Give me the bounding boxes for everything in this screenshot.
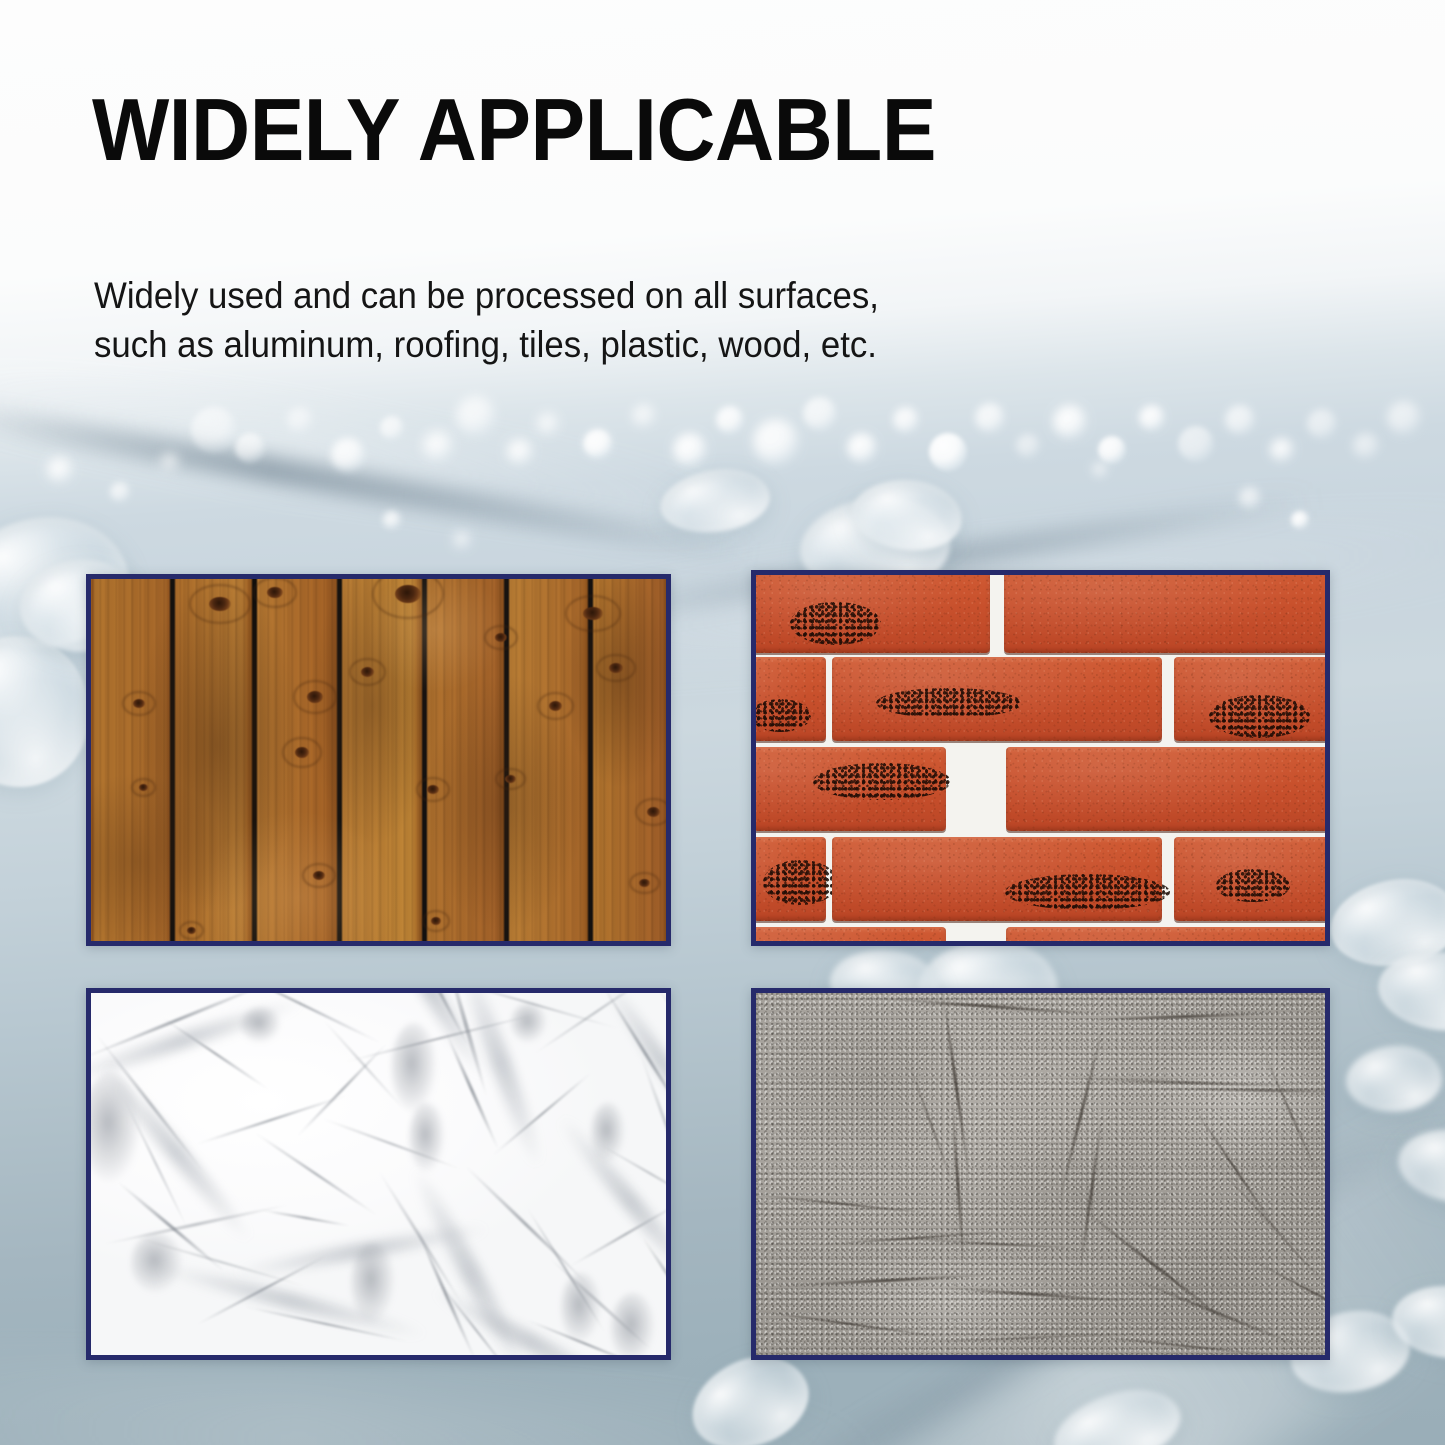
concrete-crack [1123, 1274, 1310, 1352]
brick-course-layer [756, 575, 1325, 941]
marble-vein-cluster [391, 1023, 437, 1113]
brick [1174, 657, 1325, 741]
wood-knot-ring [495, 768, 526, 790]
surface-sample-concrete [751, 988, 1330, 1360]
concrete-crack [1086, 1335, 1285, 1355]
marble-vein-cluster [351, 1243, 395, 1323]
marble-vein-cluster [131, 1233, 183, 1293]
surface-sample-marble [86, 988, 671, 1360]
concrete-crack [756, 1309, 949, 1339]
concrete-crack [1057, 1022, 1106, 1207]
concrete-crack-layer [756, 993, 1325, 1355]
marble-vein [253, 1131, 378, 1217]
marble-vein-cluster [591, 1103, 625, 1163]
surface-sample-brick [751, 570, 1330, 946]
page-subtitle: Widely used and can be processed on all … [94, 272, 879, 370]
wood-knot-ring [537, 692, 573, 720]
concrete-crack [1245, 1256, 1325, 1333]
promo-graphic: WIDELY APPLICABLE Widely used and can be… [0, 0, 1445, 1445]
wood-knot-ring [302, 863, 336, 888]
concrete-crack [916, 1333, 1136, 1343]
wood-knot-ring [629, 872, 660, 894]
wood-knot-ring [484, 625, 518, 650]
concrete-crack [936, 1286, 1136, 1303]
wood-knot-ring [253, 577, 298, 608]
wood-knot-ring [349, 658, 385, 686]
brick-course [756, 927, 1325, 941]
concrete-crack [756, 1193, 938, 1215]
brick [832, 657, 1162, 741]
marble-vein-layer [91, 993, 666, 1355]
wood-knot-ring [565, 595, 621, 631]
concrete-crack [904, 1053, 957, 1195]
brick [1006, 927, 1325, 941]
marble-vein [262, 1209, 351, 1227]
wood-knot-ring [293, 680, 338, 714]
concrete-crack [1078, 1110, 1105, 1279]
brick [1174, 837, 1325, 921]
marble-vein-cluster [409, 1103, 445, 1173]
marble-vein-soft [430, 1282, 633, 1355]
wood-knot-ring [189, 584, 251, 623]
brick [756, 657, 826, 741]
marble-vein-cluster [241, 1007, 281, 1043]
concrete-crack [896, 1238, 1096, 1250]
wood-knot-ring [122, 691, 156, 716]
brick-course [756, 747, 1325, 831]
brick [1004, 575, 1325, 653]
wood-knot-ring [282, 737, 321, 768]
marble-vein-cluster [561, 1273, 601, 1343]
wood-knot-ring [422, 910, 450, 932]
brick-course [756, 575, 1325, 653]
marble-vein [103, 1203, 289, 1245]
wood-shading-overlay [91, 579, 666, 941]
concrete-crack [1086, 1012, 1286, 1022]
brick [832, 837, 1162, 921]
wood-knot-ring [635, 798, 671, 826]
marble-vein-cluster [611, 1293, 655, 1355]
page-title: WIDELY APPLICABLE [92, 86, 936, 174]
brick [756, 747, 946, 831]
brick [756, 837, 826, 921]
brick-course [756, 657, 1325, 741]
brick [1006, 747, 1325, 831]
wood-knot-ring [596, 654, 635, 682]
concrete-crack [1215, 1162, 1325, 1297]
surface-sample-wood [86, 574, 671, 946]
marble-vein-cluster [91, 1073, 141, 1183]
wood-knot-ring [416, 777, 450, 802]
concrete-crack [876, 997, 1106, 1016]
concrete-crack [776, 1273, 996, 1288]
concrete-crack [1156, 1087, 1325, 1094]
brick-course [756, 837, 1325, 921]
brick [756, 927, 946, 941]
concrete-crack [1260, 1045, 1323, 1183]
brick [756, 575, 990, 653]
marble-vein [296, 1043, 388, 1138]
marble-vein-cluster [511, 1003, 547, 1043]
concrete-crack [1190, 1103, 1281, 1237]
